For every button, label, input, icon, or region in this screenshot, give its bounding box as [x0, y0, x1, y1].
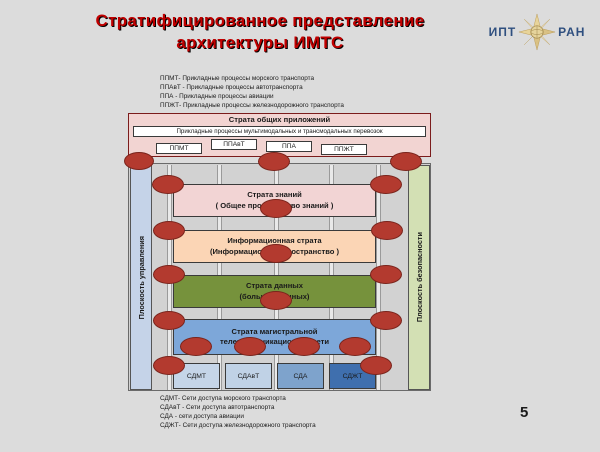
connector-node — [288, 337, 320, 356]
page-title: Стратифицированное представление архитек… — [60, 10, 460, 54]
connector-node — [124, 152, 154, 170]
access-network-sdavt: СДАвТ — [225, 363, 272, 389]
legend-item: ППМТ- Прикладные процессы морского транс… — [160, 74, 344, 83]
app-box-ppavt: ППАвТ — [211, 139, 257, 150]
connector-node — [153, 265, 185, 284]
page-title-line-1: Стратифицированное представление — [60, 10, 460, 32]
connector-node — [260, 291, 292, 310]
connector-node — [390, 152, 422, 171]
access-network-sda: СДА — [277, 363, 324, 389]
strata-telecom-line-1: Страта магистральной — [232, 327, 318, 338]
connector-node — [180, 337, 212, 356]
connector-node — [152, 175, 184, 194]
strata-common-applications: Страта общих приложений Прикладные проце… — [128, 113, 431, 157]
multimodal-processes-box: Прикладные процессы мультимодальных и тр… — [133, 126, 426, 137]
legend-item: СДМТ- Сети доступа морского транспорта — [160, 394, 316, 403]
connector-node — [339, 337, 371, 356]
security-plane-panel: Плоскость безопасности — [408, 165, 430, 390]
legend-application-processes: ППМТ- Прикладные процессы морского транс… — [160, 74, 344, 110]
connector-node — [234, 337, 266, 356]
connector-node — [370, 175, 402, 194]
connector-node — [153, 221, 185, 240]
security-plane-label: Плоскость безопасности — [415, 232, 424, 322]
connector-node — [258, 152, 290, 171]
legend-item: СДЖТ- Сети доступа железнодорожного тран… — [160, 421, 316, 430]
connector-node — [370, 311, 402, 330]
connector-node — [153, 356, 185, 375]
page-number: 5 — [520, 404, 528, 421]
institute-logo: ИПТ РАН — [484, 8, 590, 56]
control-plane-label: Плоскость управления — [137, 236, 146, 319]
connector-node — [360, 356, 392, 375]
stratified-architecture-diagram: Страта общих приложений Прикладные проце… — [128, 113, 435, 391]
legend-access-networks: СДМТ- Сети доступа морского транспорта С… — [160, 394, 316, 430]
logo-text-left: ИПТ — [489, 25, 517, 39]
connector-node — [370, 265, 402, 284]
sun-star-emblem-icon — [518, 13, 556, 51]
page-title-line-2: архитектуры ИМТС — [60, 32, 460, 54]
app-box-ppa: ППА — [266, 141, 312, 152]
legend-item: ППАвТ - Прикладные процессы автотранспор… — [160, 83, 344, 92]
logo-text-right: РАН — [558, 25, 585, 39]
strata-common-applications-title: Страта общих приложений — [129, 115, 430, 125]
legend-item: СДАвТ - Сети доступа автотранспорта — [160, 403, 316, 412]
connector-node — [371, 221, 403, 240]
legend-item: СДА - сети доступа авиации — [160, 412, 316, 421]
strata-data-line-1: Страта данных — [246, 281, 303, 292]
app-box-ppzht: ППЖТ — [321, 144, 367, 155]
connector-node — [260, 244, 292, 263]
connector-node — [153, 311, 185, 330]
app-box-ppmt: ППМТ — [156, 143, 202, 154]
connector-node — [260, 199, 292, 218]
legend-item: ППЖТ- Прикладные процессы железнодорожно… — [160, 101, 344, 110]
legend-item: ППА - Прикладные процессы авиации — [160, 92, 344, 101]
control-plane-panel: Плоскость управления — [130, 165, 152, 390]
